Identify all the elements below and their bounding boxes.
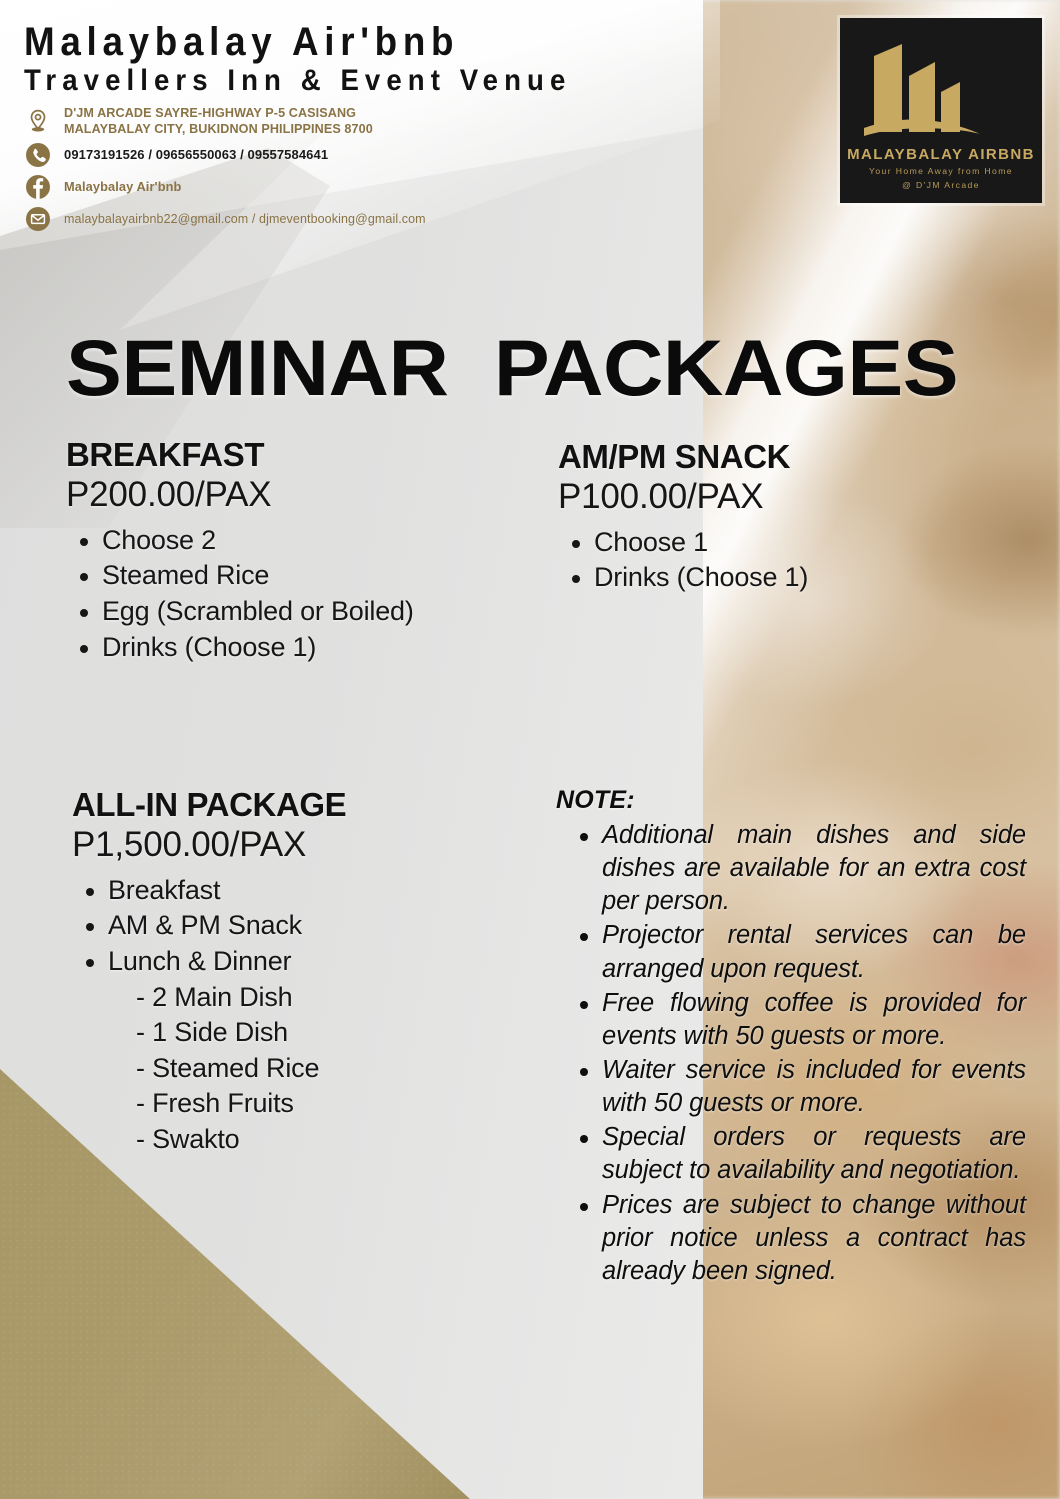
contact-row-facebook[interactable]: Malaybalay Air'bnb [24, 173, 824, 201]
package-price: P1,500.00/PAX [72, 824, 542, 866]
package-item-list: Breakfast AM & PM Snack Lunch & Dinner -… [72, 873, 542, 1158]
package-breakfast: BREAKFAST P200.00/PAX Choose 2 Steamed R… [66, 438, 536, 665]
logo: MALAYBALAY AIRBNB Your Home Away from Ho… [840, 18, 1042, 203]
package-title: AM/PM SNACK [558, 440, 978, 475]
address-line-1: D'JM ARCADE SAYRE-HIGHWAY P-5 CASISANG [64, 106, 356, 120]
logo-tagline-secondary: @ D'JM Arcade [840, 180, 1042, 190]
list-sub-item: - 2 Main Dish [108, 980, 542, 1016]
list-item: Choose 1 [594, 525, 978, 561]
note-block: NOTE: Additional main dishes and side di… [556, 786, 1026, 1289]
list-item: AM & PM Snack [108, 908, 542, 944]
contact-block: D'JM ARCADE SAYRE-HIGHWAY P-5 CASISANG M… [24, 105, 824, 233]
package-am-pm-snack: AM/PM SNACK P100.00/PAX Choose 1 Drinks … [558, 440, 978, 596]
contact-row-address: D'JM ARCADE SAYRE-HIGHWAY P-5 CASISANG M… [24, 105, 824, 137]
email-addresses[interactable]: malaybalayairbnb22@gmail.com / djmeventb… [64, 211, 426, 227]
package-price: P100.00/PAX [558, 476, 978, 518]
package-all-in: ALL-IN PACKAGE P1,500.00/PAX Breakfast A… [72, 788, 542, 1158]
list-item: Lunch & Dinner [108, 944, 542, 980]
list-sub-item: - Steamed Rice [108, 1051, 542, 1087]
address-text: D'JM ARCADE SAYRE-HIGHWAY P-5 CASISANG M… [64, 105, 373, 137]
list-item: Breakfast [108, 873, 542, 909]
note-list: Additional main dishes and side dishes a… [556, 819, 1026, 1288]
address-line-2: MALAYBALAY CITY, BUKIDNON PHILIPPINES 87… [64, 122, 373, 136]
envelope-icon[interactable] [24, 205, 52, 233]
seminar-packages-flyer: Malaybalay Air'bnb Travellers Inn & Even… [0, 0, 1060, 1499]
list-sub-item: - 1 Side Dish [108, 1015, 542, 1051]
list-item: Drinks (Choose 1) [102, 630, 536, 666]
building-silhouette-icon [840, 32, 1042, 144]
note-item: Prices are subject to change without pri… [602, 1189, 1026, 1288]
note-item: Special orders or requests are subject t… [602, 1121, 1026, 1187]
package-item-list: Choose 2 Steamed Rice Egg (Scrambled or … [66, 523, 536, 666]
note-title: NOTE: [556, 786, 1026, 815]
facebook-handle[interactable]: Malaybalay Air'bnb [64, 179, 181, 195]
logo-name: MALAYBALAY AIRBNB [840, 146, 1042, 163]
contact-row-email[interactable]: malaybalayairbnb22@gmail.com / djmeventb… [24, 205, 824, 233]
list-item: Choose 2 [102, 523, 536, 559]
contact-row-phone: 09173191526 / 09656550063 / 09557584641 [24, 141, 824, 169]
package-title: BREAKFAST [66, 438, 536, 473]
package-item-list: Choose 1 Drinks (Choose 1) [558, 525, 978, 596]
list-item: Drinks (Choose 1) [594, 560, 978, 596]
list-sub-item: - Swakto [108, 1122, 542, 1158]
package-title: ALL-IN PACKAGE [72, 788, 542, 823]
facebook-icon[interactable] [24, 173, 52, 201]
package-price: P200.00/PAX [66, 474, 536, 516]
list-sub-item: - Fresh Fruits [108, 1086, 542, 1122]
phone-numbers: 09173191526 / 09656550063 / 09557584641 [64, 147, 328, 164]
list-item: Steamed Rice [102, 558, 536, 594]
logo-tagline: Your Home Away from Home [840, 166, 1042, 176]
note-item: Projector rental services can be arrange… [602, 919, 1026, 985]
header: Malaybalay Air'bnb Travellers Inn & Even… [24, 22, 824, 237]
page-title: SEMINAR PACKAGES [66, 330, 958, 406]
note-item: Waiter service is included for events wi… [602, 1054, 1026, 1120]
phone-icon [24, 141, 52, 169]
note-item: Free flowing coffee is provided for even… [602, 987, 1026, 1053]
location-pin-icon [24, 107, 52, 135]
brand-name: Malaybalay Air'bnb [24, 22, 760, 64]
brand-subtitle: Travellers Inn & Event Venue [24, 65, 760, 97]
note-item: Additional main dishes and side dishes a… [602, 819, 1026, 918]
list-item: Egg (Scrambled or Boiled) [102, 594, 536, 630]
